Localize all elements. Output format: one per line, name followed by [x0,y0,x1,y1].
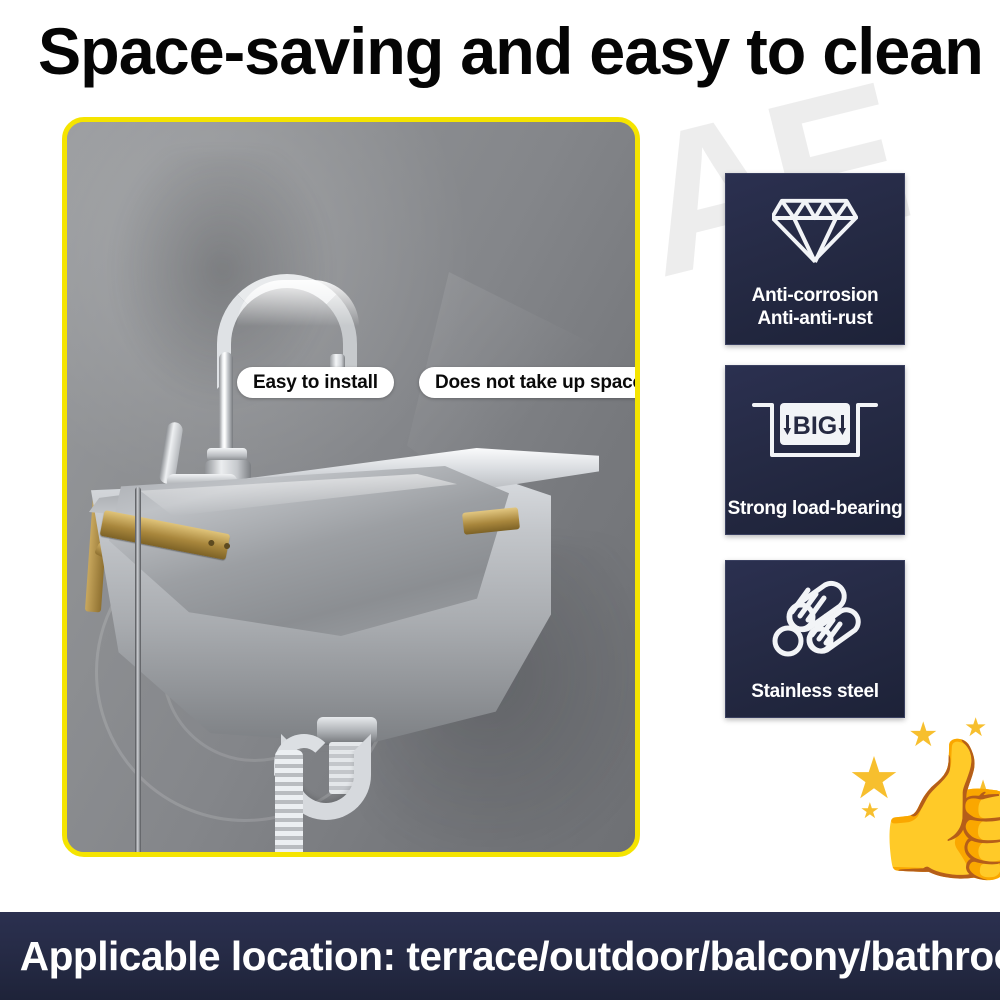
feature-label-anti-corrosion: Anti-corrosion Anti-anti-rust [746,284,885,344]
product-photo-image: Easy to install Does not take up space [67,122,635,852]
supply-hose [135,487,141,857]
feature-label-line-2: Anti-anti-rust [757,308,872,329]
feature-badge-strong-load-bearing: BIG Strong load-bearing [725,365,905,535]
diamond-icon [726,174,904,284]
product-photo: Easy to install Does not take up space [62,117,640,857]
callout-easy-to-install: Easy to install [237,367,394,398]
feature-badge-stainless-steel: Stainless steel [725,560,905,718]
sink-load-big-icon: BIG [726,366,904,497]
callout-does-not-take-up-space: Does not take up space [419,367,640,398]
feature-badge-anti-corrosion: Anti-corrosion Anti-anti-rust [725,173,905,345]
big-label: BIG [793,412,837,440]
bottom-banner: Applicable location: terrace/outdoor/bal… [0,912,1000,1000]
feature-label-line-1: Anti-corrosion [752,285,879,306]
feature-label-strong-load-bearing: Strong load-bearing [722,497,909,534]
steel-pipes-icon [726,561,904,680]
thumbs-up-icon: 👍 [866,740,1000,876]
banner-text: Applicable location: terrace/outdoor/bal… [0,933,1000,980]
drain-hose [275,750,303,857]
thumbs-up-decoration: ★ ★ ★ ★ ★ 👍 [838,712,998,902]
page-title: Space-saving and easy to clean [38,12,969,90]
